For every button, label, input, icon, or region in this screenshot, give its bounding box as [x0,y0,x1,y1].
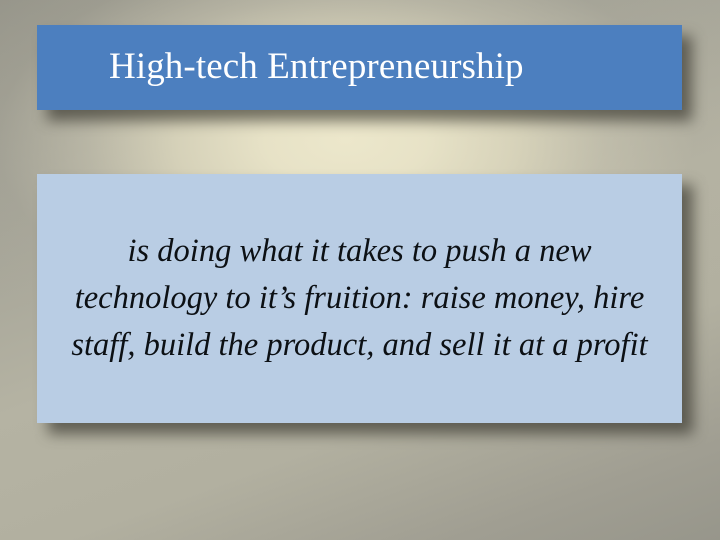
slide-canvas: High-tech Entrepreneurship is doing what… [0,0,720,540]
slide-title: High-tech Entrepreneurship [37,48,544,87]
slide-body-text: is doing what it takes to push a new tec… [37,228,682,369]
slide-body-box: is doing what it takes to push a new tec… [37,174,682,423]
slide-title-bar: High-tech Entrepreneurship [37,25,682,110]
